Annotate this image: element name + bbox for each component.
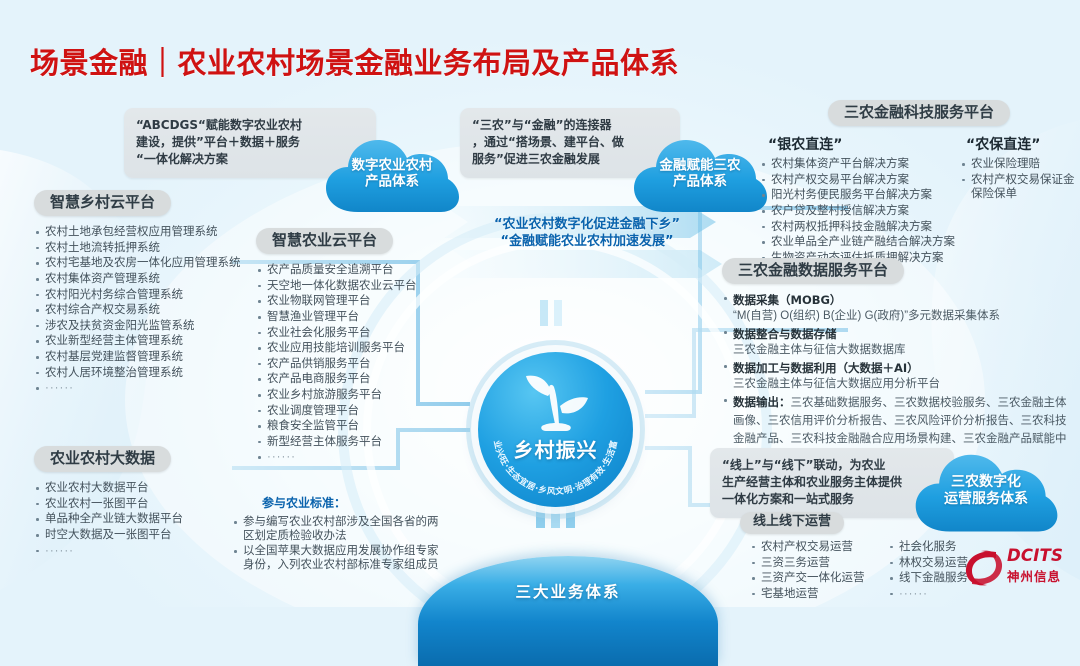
- cloud-finance-enabling[interactable]: 金融赋能三农 产品体系: [630, 128, 770, 220]
- center-arrow-slogan: “农业农村数字化促进金融下乡” “金融赋能农业农村加速发展”: [452, 216, 722, 250]
- agri-big-data-list: 农业农村大数据平台 农业农村一张图平台 单品种全产业链大数据平台 时空大数据及一…: [34, 481, 249, 558]
- sprout-icon: [478, 352, 633, 507]
- data-row-sub: 三农金融主体与征信大数据数据库: [733, 343, 1074, 358]
- data-row-bold: 数据加工与数据利用（大数据＋AI）: [733, 361, 919, 375]
- panel-online-offline-ops-title: 线上线下运营: [740, 512, 844, 534]
- list-item: 宅基地运营: [750, 587, 890, 602]
- panel-smart-agriculture: 智慧农业云平台 农产品质量安全追溯平台 天空地一体化数据农业云平台 农业物联网管…: [256, 228, 461, 466]
- cloud-line-1: 三农数字化: [910, 474, 1062, 491]
- list-item: 阳光村务便民服务平台解决方案: [760, 188, 956, 203]
- panel-data-service: 三农金融数据服务平台 数据采集（MOBG） “M(自营) O(组织) B(企业)…: [722, 258, 1074, 466]
- list-item: 农村产权交易保证金保险保单: [960, 173, 1078, 201]
- list-item: 农村人居环境整治管理系统: [34, 366, 249, 381]
- list-item: 农业农村大数据平台: [34, 481, 249, 496]
- cloud-line-2: 运营服务体系: [910, 491, 1062, 508]
- list-item: 数据加工与数据利用（大数据＋AI） 三农金融主体与征信大数据应用分析平台: [722, 359, 1074, 392]
- panel-smart-agriculture-title: 智慧农业云平台: [256, 228, 393, 254]
- list-item: 农村综合产权交易系统: [34, 303, 249, 318]
- cloud-line-1: 金融赋能三农: [630, 158, 770, 174]
- list-item: 单品种全产业链大数据平台: [34, 512, 249, 527]
- data-row-bold: 数据采集（MOBG）: [733, 293, 841, 307]
- dcits-logo-cn: 神州信息: [1007, 566, 1063, 585]
- panel-agri-big-data-title: 农业农村大数据: [34, 446, 171, 472]
- fintech-col-insurance: “农保直连” 农业保险理赔 农村产权交易保证金保险保单: [960, 134, 1078, 202]
- list-item: 农业应用技能培训服务平台: [256, 341, 461, 356]
- list-item: 农村基层党建监督管理系统: [34, 350, 249, 365]
- list-item: 农业新型经营主体管理系统: [34, 334, 249, 349]
- list-item: 新型经营主体服务平台: [256, 435, 461, 450]
- list-item: 参与编写农业农村部涉及全国各省的两区划定质检验收办法: [232, 515, 447, 543]
- data-service-list: 数据采集（MOBG） “M(自营) O(组织) B(企业) G(政府)”多元数据…: [722, 291, 1074, 465]
- list-item: 农业物联网管理平台: [256, 294, 461, 309]
- cloud-line-2: 产品体系: [322, 174, 462, 190]
- cloud-digital-operations-label: 三农数字化 运营服务体系: [910, 474, 1062, 508]
- cloud-digital-agriculture[interactable]: 数字农业农村 产品体系: [322, 128, 462, 220]
- list-item: 农产品质量安全追溯平台: [256, 263, 461, 278]
- list-item: 三资三务运营: [750, 556, 890, 571]
- dcits-logo: DCITS 神州信息: [962, 545, 1074, 591]
- smart-agriculture-list: 农产品质量安全追溯平台 天空地一体化数据农业云平台 农业物联网管理平台 智慧渔业…: [256, 263, 461, 465]
- list-item: 农业乡村旅游服务平台: [256, 388, 461, 403]
- list-item: 农村产权交易运营: [750, 540, 890, 555]
- data-row-sub: 三农金融主体与征信大数据应用分析平台: [733, 377, 1074, 392]
- slogan-line-2: “金融赋能农业农村加速发展”: [452, 233, 722, 250]
- list-item: 数据采集（MOBG） “M(自营) O(组织) B(企业) G(政府)”多元数据…: [722, 291, 1074, 324]
- list-item: 农业调度管理平台: [256, 404, 461, 419]
- list-item: 农产品供销服务平台: [256, 357, 461, 372]
- cloud-line-2: 产品体系: [630, 174, 770, 190]
- list-item: 农业保险理赔: [960, 157, 1078, 172]
- list-item: 农业单品全产业链产融结合解决方案: [760, 235, 956, 250]
- cloud-finance-enabling-label: 金融赋能三农 产品体系: [630, 158, 770, 191]
- list-item: 粮食安全监管平台: [256, 419, 461, 434]
- panel-smart-village: 智慧乡村云平台 农村土地承包经营权应用管理系统 农村土地流转抵押系统 农村宅基地…: [34, 190, 249, 397]
- fintech-col-insurance-title: “农保直连”: [960, 134, 1078, 154]
- list-item: 农户贷及整村授信解决方案: [760, 204, 956, 219]
- list-item-ellipsis: ······: [34, 544, 249, 559]
- cloud-line-1: 数字农业农村: [322, 158, 462, 174]
- list-item: 农业农村一张图平台: [34, 497, 249, 512]
- emblem-title: 乡村振兴: [478, 434, 633, 463]
- fintech-insurance-list: 农业保险理赔 农村产权交易保证金保险保单: [960, 157, 1078, 201]
- list-item: 农村两权抵押科技金融解决方案: [760, 220, 956, 235]
- list-item: 智慧渔业管理平台: [256, 310, 461, 325]
- list-item: 以全国苹果大数据应用发展协作组专家身份，入列农业农村部标准专家组成员: [232, 544, 447, 572]
- list-item-ellipsis: ······: [256, 450, 461, 465]
- list-item: 涉农及扶贫资金阳光监管系统: [34, 319, 249, 334]
- list-item: 农村产权交易平台解决方案: [760, 173, 956, 188]
- list-item: 农产品电商服务平台: [256, 372, 461, 387]
- list-item: 数据整合与数据存储 三农金融主体与征信大数据数据库: [722, 325, 1074, 358]
- smart-village-list: 农村土地承包经营权应用管理系统 农村土地流转抵押系统 农村宅基地及农房一体化应用…: [34, 225, 249, 396]
- list-item: 农业社会化服务平台: [256, 326, 461, 341]
- center-emblem-rural-revitalization[interactable]: 产业兴旺·生态宜居·乡风文明·治理有效·生活富裕 乡村振兴: [478, 352, 633, 507]
- list-item: 农村土地流转抵押系统: [34, 241, 249, 256]
- ops-col-1: 农村产权交易运营 三资三务运营 三资产交一体化运营 宅基地运营: [750, 540, 890, 602]
- dome-label: 三大业务体系: [418, 580, 718, 602]
- list-item: 农村集体资产平台解决方案: [760, 157, 956, 172]
- list-item: 三资产交一体化运营: [750, 571, 890, 586]
- page-title: 场景金融｜农业农村场景金融业务布局及产品体系: [30, 40, 679, 82]
- panel-agri-big-data: 农业农村大数据 农业农村大数据平台 农业农村一张图平台 单品种全产业链大数据平台…: [34, 446, 249, 559]
- data-row-bold: 数据整合与数据存储: [733, 327, 837, 341]
- panel-data-service-title: 三农金融数据服务平台: [722, 258, 904, 284]
- cloud-digital-agriculture-label: 数字农业农村 产品体系: [322, 158, 462, 191]
- panel-smart-village-title: 智慧乡村云平台: [34, 190, 171, 216]
- agri-standards-list: 参与编写农业农村部涉及全国各省的两区划定质检验收办法 以全国苹果大数据应用发展协…: [232, 515, 447, 572]
- list-item: 农村阳光村务综合管理系统: [34, 288, 249, 303]
- list-item: 农村宅基地及农房一体化应用管理系统: [34, 256, 249, 271]
- panel-agri-standards: 参与农业标准： 参与编写农业农村部涉及全国各省的两区划定质检验收办法 以全国苹果…: [232, 494, 447, 573]
- list-item: 农村集体资产管理系统: [34, 272, 249, 287]
- panel-fintech-platform-title: 三农金融科技服务平台: [828, 100, 1010, 126]
- slogan-line-1: “农业农村数字化促进金融下乡”: [452, 216, 722, 233]
- list-item-ellipsis: ······: [34, 381, 249, 396]
- dcits-swirl-icon: [962, 547, 1006, 589]
- data-row-sub: “M(自营) O(组织) B(企业) G(政府)”多元数据采集体系: [733, 309, 1074, 324]
- list-item: 天空地一体化数据农业云平台: [256, 279, 461, 294]
- dcits-logo-en: DCITS: [1007, 546, 1063, 565]
- panel-fintech-platform: 三农金融科技服务平台 “银农直连” 农村集体资产平台解决方案 农村产权交易平台解…: [760, 100, 1078, 134]
- data-output-label: 数据输出：: [733, 395, 791, 409]
- dcits-logo-text: DCITS 神州信息: [1007, 546, 1063, 585]
- list-item: 农村土地承包经营权应用管理系统: [34, 225, 249, 240]
- panel-agri-standards-title: 参与农业标准：: [232, 494, 447, 511]
- fintech-col-bank-title: “银农直连”: [760, 134, 956, 154]
- list-item: 时空大数据及一张图平台: [34, 528, 249, 543]
